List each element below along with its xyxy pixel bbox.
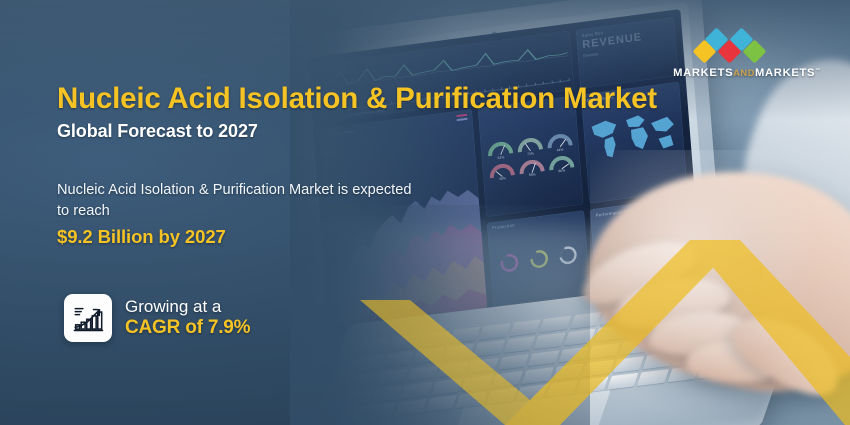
logo-wordmark: MARKETSANDMARKETS™ xyxy=(672,67,822,79)
market-value: $9.2 Billion by 2027 xyxy=(57,226,226,248)
marketing-banner: Daily Trend Jan 2021 - Dec 2021 performa… xyxy=(0,0,850,425)
cagr-text: Growing at a CAGR of 7.9% xyxy=(125,297,250,339)
cagr-line-2: CAGR of 7.9% xyxy=(125,317,250,339)
growth-chart-glyph xyxy=(71,301,105,335)
logo-diamonds xyxy=(672,30,822,64)
text-content: Nucleic Acid Isolation & Purification Ma… xyxy=(0,0,720,425)
page-subtitle: Global Forecast to 2027 xyxy=(57,121,258,142)
marketsandmarkets-logo[interactable]: MARKETSANDMARKETS™ xyxy=(672,30,822,79)
body-description: Nucleic Acid Isolation & Purification Ma… xyxy=(57,180,427,222)
cagr-block: Growing at a CAGR of 7.9% xyxy=(64,294,250,342)
growth-chart-icon xyxy=(64,294,112,342)
cagr-line-1: Growing at a xyxy=(125,297,250,317)
logo-trademark: ™ xyxy=(815,67,821,73)
logo-word-markets-2: MARKETS xyxy=(755,67,815,79)
logo-word-and: AND xyxy=(733,68,755,78)
logo-word-markets-1: MARKETS xyxy=(673,67,733,79)
page-title: Nucleic Acid Isolation & Purification Ma… xyxy=(57,82,657,116)
